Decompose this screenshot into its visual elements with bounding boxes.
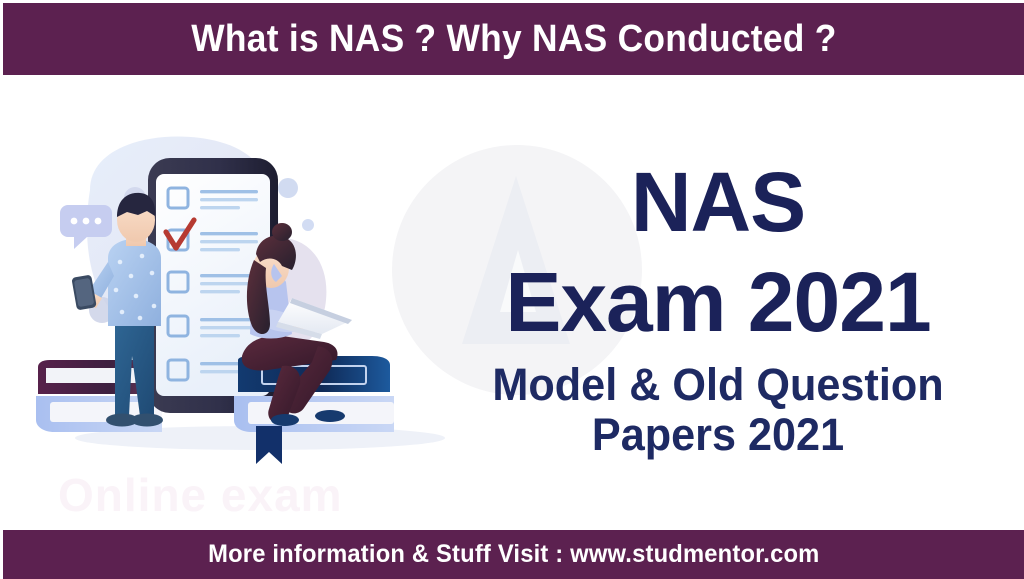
footer-banner: More information & Stuff Visit : www.stu… bbox=[3, 530, 1024, 579]
header-banner: What is NAS ? Why NAS Conducted ? bbox=[3, 3, 1024, 75]
headline-block: NAS Exam 2021 Model & Old Question Paper… bbox=[438, 160, 998, 461]
bookmark-ribbon-icon bbox=[256, 426, 282, 464]
poster-canvas: What is NAS ? Why NAS Conducted ? Online… bbox=[0, 0, 1024, 579]
online-exam-illustration bbox=[30, 120, 450, 520]
headline-line-1: NAS bbox=[438, 160, 998, 244]
subtitle-line-1: Model & Old Question bbox=[449, 360, 987, 410]
headline-line-2: Exam 2021 bbox=[438, 260, 998, 344]
footer-link-text: More information & Stuff Visit : www.stu… bbox=[208, 540, 819, 569]
subtitle-line-2: Papers 2021 bbox=[449, 410, 987, 460]
page-title: What is NAS ? Why NAS Conducted ? bbox=[191, 18, 836, 61]
